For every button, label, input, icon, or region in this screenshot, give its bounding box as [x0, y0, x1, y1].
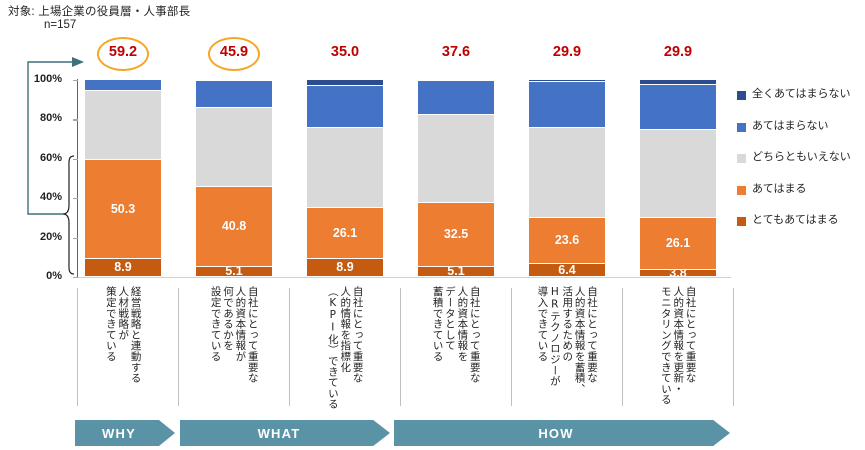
y-axis-tick-label: 20%: [18, 231, 70, 243]
category-label-line: 自社にとって重要な: [246, 286, 258, 406]
bar-segment-value: 6.4: [558, 264, 575, 276]
category-label-line: 人的情報を指標化: [339, 286, 351, 406]
legend: 全くあてはまらないあてはまらないどちらともいえないあてはまるとてもあてはまる: [737, 88, 863, 246]
sample-size: n=157: [44, 19, 76, 31]
bar-segment[interactable]: [85, 91, 161, 160]
y-axis-tick-mark: [73, 119, 78, 120]
category-label-line: モニタリングできている: [659, 286, 671, 406]
phase-chevron-why: WHY: [75, 420, 175, 446]
category-label-line: 自社にとって重要な: [586, 286, 598, 406]
category-separator: [400, 288, 401, 406]
stacked-bar[interactable]: 8.950.3: [85, 80, 161, 277]
category-label: 自社にとって重要な人的資本情報が何であるかを設定できている: [186, 286, 282, 406]
category-label-line: 活用するための: [561, 286, 573, 406]
y-axis-tick-label: 40%: [18, 191, 70, 203]
bar-segment[interactable]: [307, 86, 383, 127]
bar-stack: 6.423.6: [529, 80, 605, 277]
category-label: 自社にとって重要な人的資本情報を更新・モニタリングできている: [630, 286, 726, 406]
legend-swatch: [737, 123, 746, 132]
bar-segment-value: 3.8: [669, 270, 686, 277]
phase-label-how: HOW: [538, 426, 573, 441]
y-axis-tick-mark: [73, 198, 78, 199]
category-label-line: 人的資本情報を蓄積、: [573, 286, 585, 406]
category-label-line: 導入できている: [536, 286, 548, 406]
y-axis-tick-mark: [73, 80, 78, 81]
phase-chevron-what: WHAT: [180, 420, 390, 446]
bar-segment-value: 5.1: [447, 267, 464, 277]
y-axis-tick-mark: [73, 159, 78, 160]
category-separator: [77, 288, 78, 406]
y-axis-tick-label: 100%: [18, 73, 70, 85]
legend-swatch: [737, 186, 746, 195]
bar-segment-value: 8.9: [114, 261, 131, 274]
category-label-line: 人的資本情報を: [456, 286, 468, 406]
bar-segment[interactable]: 23.6: [529, 218, 605, 264]
bar-segment-value: 8.9: [336, 261, 353, 274]
legend-label: あてはまる: [752, 183, 807, 195]
target-description: 対象: 上場企業の役員層・人事部長: [8, 3, 190, 19]
bar-segment[interactable]: 40.8: [196, 187, 272, 267]
y-axis-tick-label: 60%: [18, 152, 70, 164]
x-axis-line: [77, 277, 731, 278]
category-label-line: 人的資本情報が: [234, 286, 246, 406]
y-axis-tick-mark: [73, 277, 78, 278]
bar-stack: 8.926.1: [307, 80, 383, 277]
category-label-line: 自社にとって重要な: [351, 286, 363, 406]
bar-segment[interactable]: [85, 80, 161, 91]
bar-segment-value: 23.6: [555, 234, 579, 247]
category-separator: [511, 288, 512, 406]
category-label: 経営戦略と連動する人材戦略が策定できている: [75, 286, 171, 406]
bar-segment[interactable]: 8.9: [85, 259, 161, 277]
category-separator: [622, 288, 623, 406]
phase-label-why: WHY: [102, 426, 136, 441]
legend-label: あてはまらない: [752, 120, 829, 132]
bar-total-label: 59.2: [85, 44, 161, 60]
bar-segment[interactable]: [640, 130, 716, 218]
bar-segment[interactable]: 3.8: [640, 270, 716, 277]
chart-root: 対象: 上場企業の役員層・人事部長 n=157 0%20%40%60%80%10…: [0, 0, 865, 450]
category-label-line: 策定できている: [104, 286, 116, 406]
legend-item[interactable]: どちらともいえない: [737, 151, 863, 163]
bar-segment[interactable]: [307, 128, 383, 208]
y-axis-tick-label: 0%: [18, 270, 70, 282]
category-separator: [733, 288, 734, 406]
bar-total-label: 37.6: [418, 44, 494, 60]
bar-segment[interactable]: [418, 81, 494, 115]
category-label-line: データとして: [444, 286, 456, 406]
legend-item[interactable]: 全くあてはまらない: [737, 88, 863, 100]
bar-segment[interactable]: [640, 85, 716, 130]
legend-label: とてもあてはまる: [752, 214, 839, 226]
bar-segment[interactable]: [418, 115, 494, 203]
bar-segment[interactable]: 5.1: [418, 267, 494, 277]
stacked-bar[interactable]: 8.926.1: [307, 80, 383, 277]
y-axis-tick-mark: [73, 238, 78, 239]
bar-total-label: 29.9: [640, 44, 716, 60]
category-label: 自社にとって重要な人的資本情報を蓄積、活用するためのHRテクノロジーが導入できて…: [519, 286, 615, 406]
bar-segment-value: 5.1: [225, 267, 242, 277]
bar-segment-value: 32.5: [444, 228, 468, 241]
bar-total-label: 45.9: [196, 44, 272, 60]
stacked-bar[interactable]: 5.140.8: [196, 80, 272, 277]
bar-segment[interactable]: [196, 81, 272, 107]
legend-swatch: [737, 154, 746, 163]
legend-label: 全くあてはまらない: [752, 88, 851, 100]
bar-segment[interactable]: 8.9: [307, 259, 383, 277]
bar-segment[interactable]: 26.1: [307, 208, 383, 259]
phase-label-what: WHAT: [258, 426, 301, 441]
legend-item[interactable]: あてはまらない: [737, 120, 863, 132]
bar-segment[interactable]: [196, 108, 272, 187]
legend-swatch: [737, 217, 746, 226]
bar-segment-value: 26.1: [666, 237, 690, 250]
category-label-line: （KPI化）できている: [326, 286, 338, 406]
category-label-line: 何であるかを: [222, 286, 234, 406]
stacked-bar[interactable]: 6.423.6: [529, 80, 605, 277]
category-label-line: 人的資本情報を更新・: [672, 286, 684, 406]
legend-label: どちらともいえない: [752, 151, 851, 163]
bar-segment[interactable]: 26.1: [640, 218, 716, 269]
bar-total-label: 35.0: [307, 44, 383, 60]
y-axis-line: [77, 79, 78, 278]
bar-total-label: 29.9: [529, 44, 605, 60]
bar-stack: 5.140.8: [196, 80, 272, 277]
bar-stack: 8.950.3: [85, 80, 161, 277]
legend-swatch: [737, 91, 746, 100]
legend-item[interactable]: とてもあてはまる: [737, 214, 863, 226]
category-separator: [289, 288, 290, 406]
bar-stack: 5.132.5: [418, 80, 494, 277]
bar-segment-value: 50.3: [111, 203, 135, 216]
category-label-line: 経営戦略と連動する: [129, 286, 141, 406]
bar-segment-value: 26.1: [333, 227, 357, 240]
bar-segment[interactable]: 50.3: [85, 160, 161, 259]
category-label-line: 人材戦略が: [117, 286, 129, 406]
stacked-bar[interactable]: 5.132.5: [418, 80, 494, 277]
bar-segment[interactable]: 5.1: [196, 267, 272, 277]
category-separator: [178, 288, 179, 406]
category-label-line: HRテクノロジーが: [548, 286, 560, 406]
phase-chevron-how: HOW: [394, 420, 730, 446]
category-label-line: 蓄積できている: [431, 286, 443, 406]
bar-segment[interactable]: 32.5: [418, 203, 494, 267]
bar-segment[interactable]: [529, 128, 605, 218]
bar-segment[interactable]: 6.4: [529, 264, 605, 277]
category-label-line: 自社にとって重要な: [684, 286, 696, 406]
category-label: 自社にとって重要な人的資本情報をデータとして蓄積できている: [408, 286, 504, 406]
bar-segment[interactable]: [529, 82, 605, 127]
category-label-line: 設定できている: [209, 286, 221, 406]
y-axis-tick-label: 80%: [18, 112, 70, 124]
bar-segment-value: 40.8: [222, 220, 246, 233]
category-label: 自社にとって重要な人的情報を指標化（KPI化）できている: [297, 286, 393, 406]
stacked-bar[interactable]: 3.826.1: [640, 80, 716, 277]
category-label-line: 自社にとって重要な: [468, 286, 480, 406]
legend-item[interactable]: あてはまる: [737, 183, 863, 195]
bar-stack: 3.826.1: [640, 80, 716, 277]
